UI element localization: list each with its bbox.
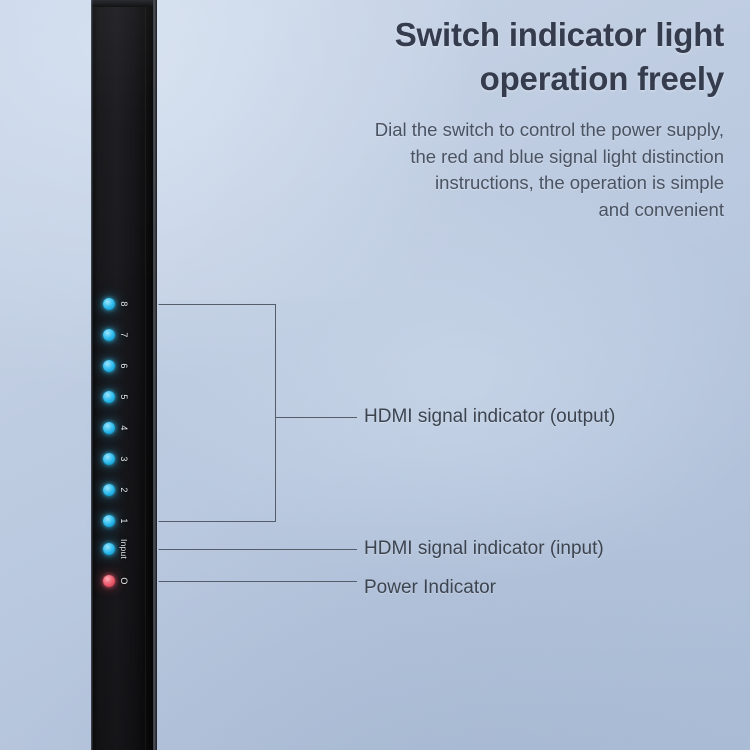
panel-seam-line: [145, 0, 146, 750]
panel-top-cap: [91, 0, 153, 7]
led-indicator-1-icon: [103, 515, 115, 527]
page-title: Switch indicator light operation freely: [304, 13, 724, 101]
headline-line-1: Switch indicator light: [304, 13, 724, 57]
led-label-6: 6: [117, 359, 131, 373]
panel-face: [91, 0, 153, 750]
led-indicator-2-icon: [103, 484, 115, 496]
led-indicator-4-icon: [103, 422, 115, 434]
led-label-5: 5: [117, 390, 131, 404]
callout-label-2: HDMI signal indicator (input): [364, 537, 604, 561]
panel-left-highlight: [91, 0, 93, 750]
led-label-4: 4: [117, 421, 131, 435]
led-label-7: 7: [117, 328, 131, 342]
description-text: Dial the switch to control the power sup…: [294, 117, 724, 223]
led-label-8: 8: [117, 297, 131, 311]
description-line-2: the red and blue signal light distinctio…: [294, 144, 724, 171]
callout-label-1: HDMI signal indicator (output): [364, 405, 615, 429]
led-label-2: 2: [117, 483, 131, 497]
led-indicator-6-icon: [103, 360, 115, 372]
led-indicator-input-icon: [103, 543, 115, 555]
headline-line-2: operation freely: [304, 57, 724, 101]
led-indicator-5-icon: [103, 391, 115, 403]
led-indicator-o-icon: [103, 575, 115, 587]
hdmi-switch-device-panel: 87654321InputO: [91, 0, 157, 750]
led-label-o: O: [117, 574, 131, 588]
description-line-3: instructions, the operation is simple: [294, 170, 724, 197]
panel-right-bevel: [153, 0, 157, 750]
led-indicator-7-icon: [103, 329, 115, 341]
led-indicator-3-icon: [103, 453, 115, 465]
led-label-3: 3: [117, 452, 131, 466]
description-line-1: Dial the switch to control the power sup…: [294, 117, 724, 144]
led-indicator-8-icon: [103, 298, 115, 310]
led-label-1: 1: [117, 514, 131, 528]
led-label-input: Input: [117, 534, 131, 564]
callout-label-3: Power Indicator: [364, 576, 496, 600]
product-feature-graphic: 87654321InputO Switch indicator light op…: [0, 0, 750, 750]
description-line-4: and convenient: [294, 197, 724, 224]
